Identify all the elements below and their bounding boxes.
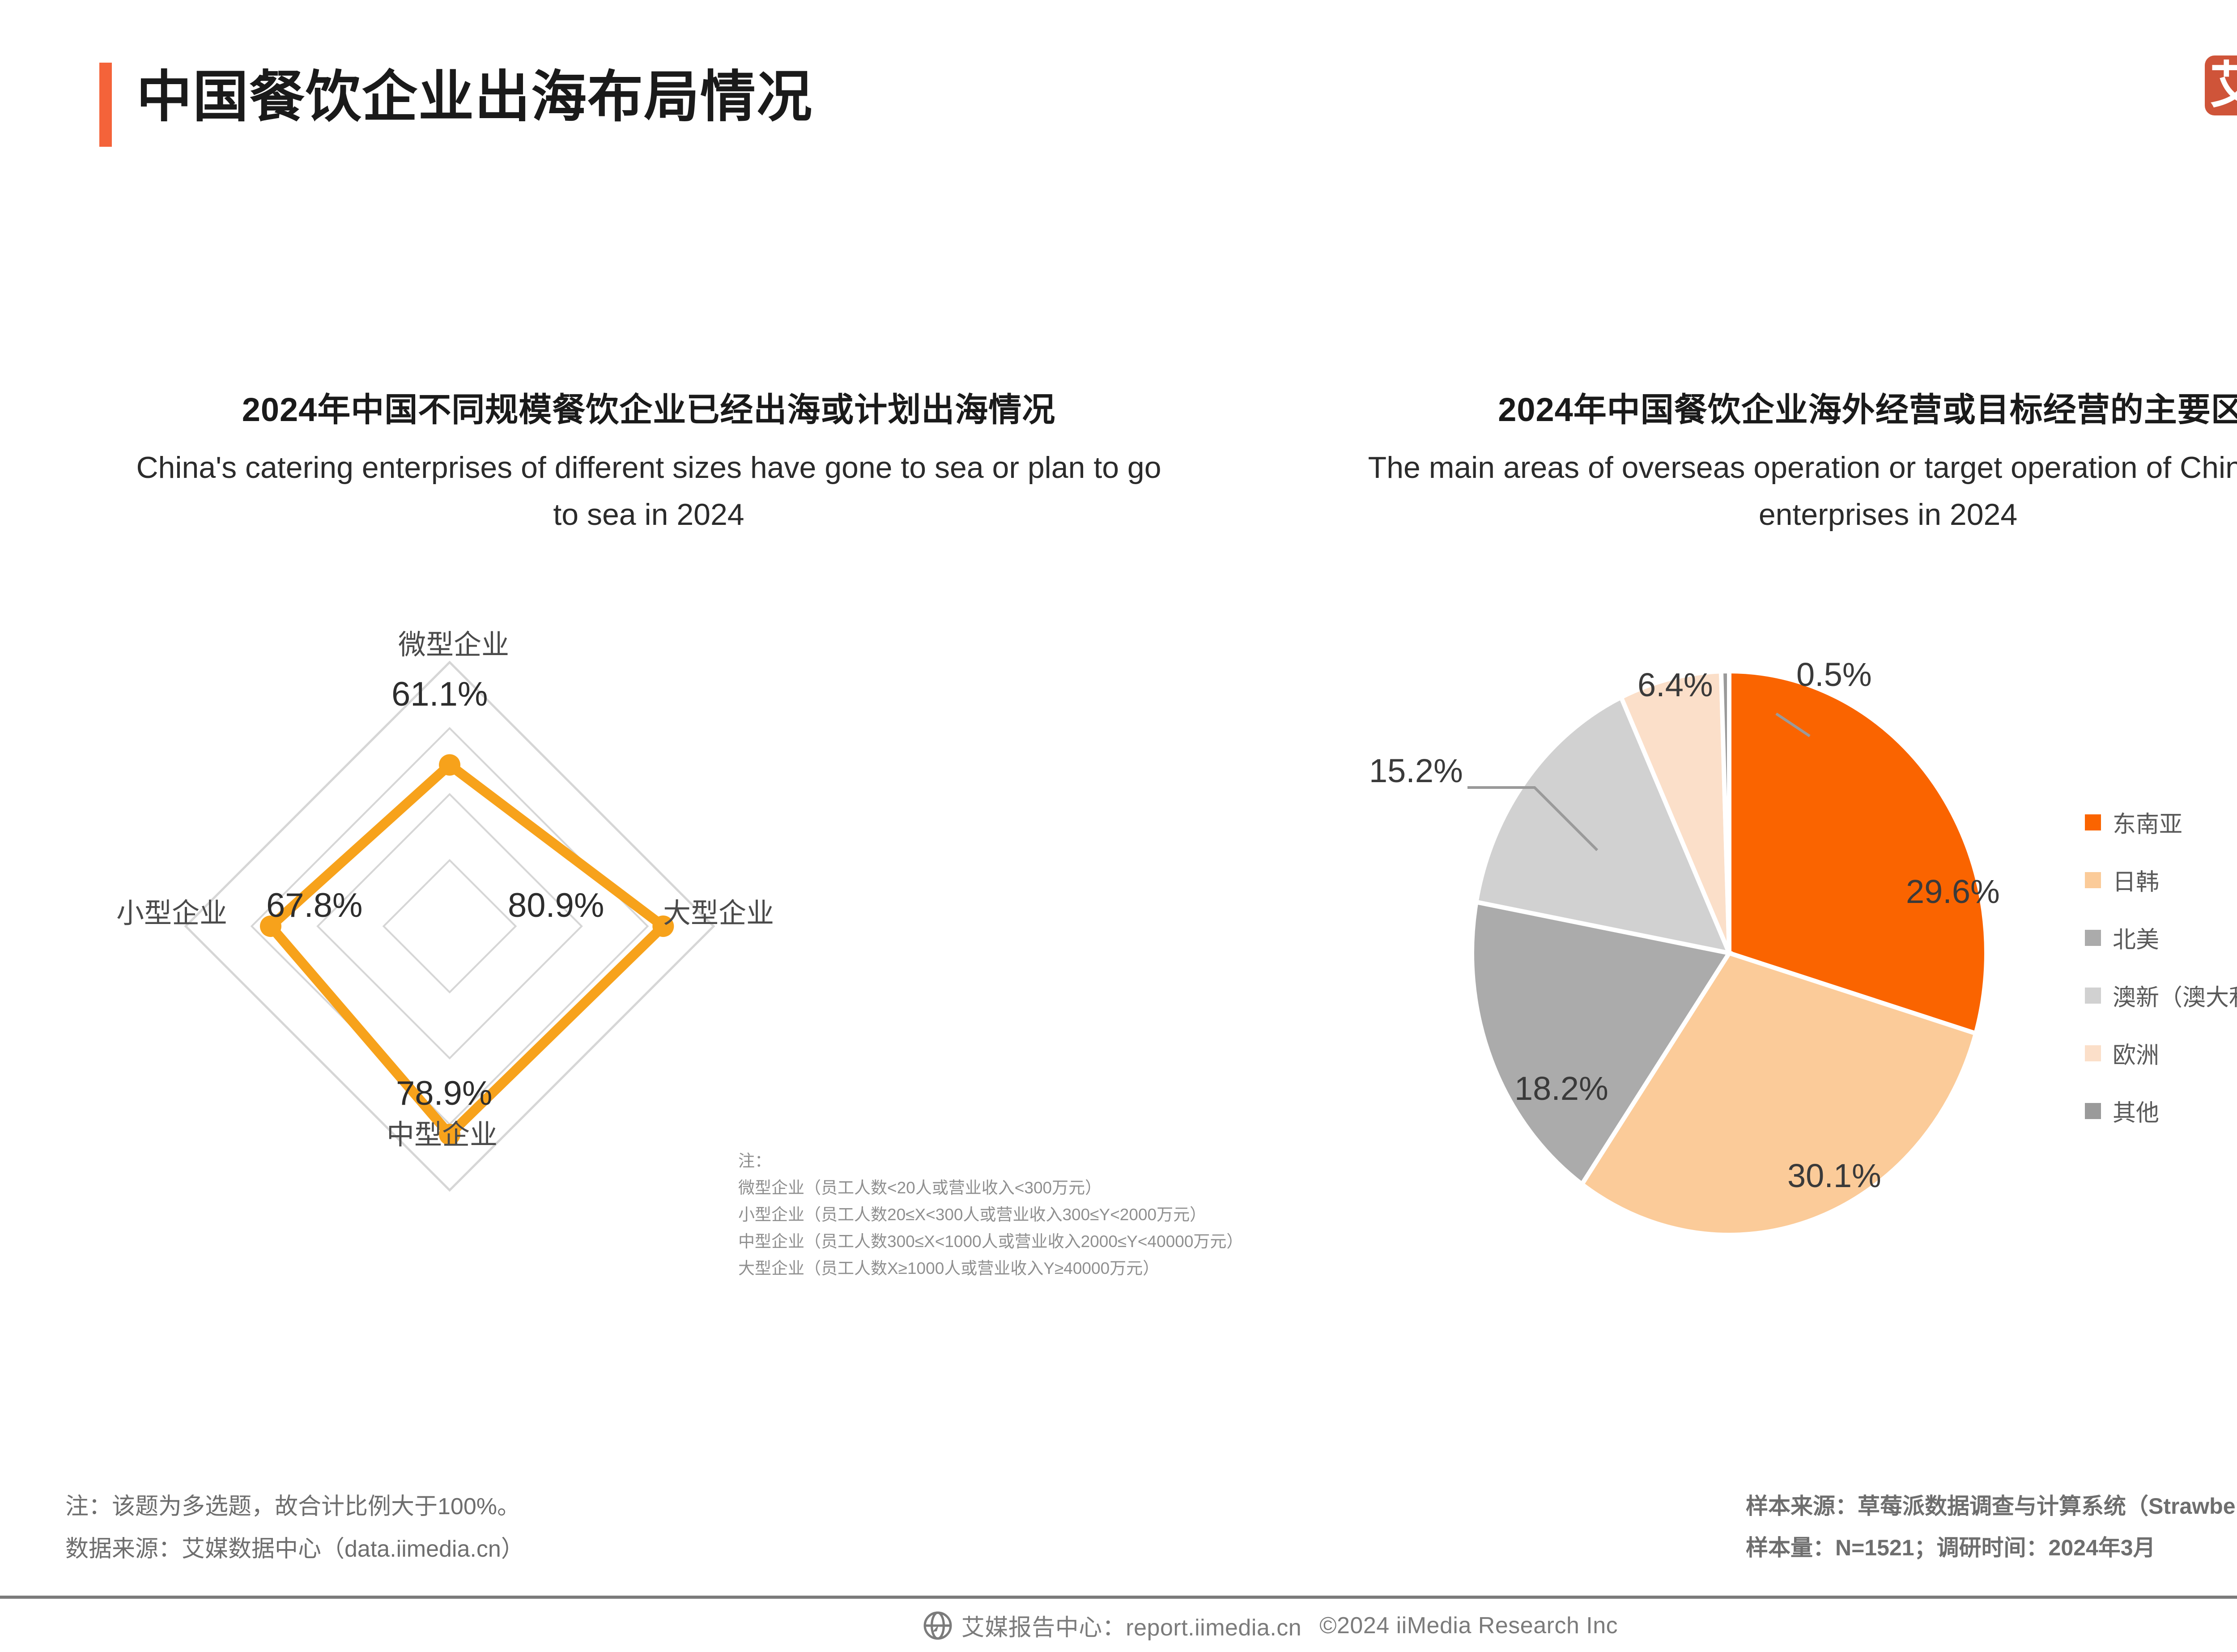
pie-value-japan-korea: 30.1% (1787, 1157, 1881, 1195)
legend-label: 北美 (2113, 921, 2159, 954)
legend-item-southeast-asia[interactable]: 东南亚 (2085, 805, 2237, 839)
pie-chart: 29.6% 30.1% 18.2% 15.2% 6.4% 0.5% 东南亚 日韩… (1324, 640, 2237, 1275)
legend-label: 东南亚 (2113, 805, 2182, 839)
report-page: 中国餐饮企业出海布局情况 艾 艾媒咨询 iiMedia Research 202… (0, 0, 2237, 1652)
footer-bar: 艾媒报告中心：report.iimedia.cn ©2024 iiMedia R… (0, 1599, 2237, 1652)
footer-note-multiselect: 注：该题为多选题，故合计比例大于100%。 (65, 1486, 524, 1528)
left-panel-title-en: China's catering enterprises of differen… (54, 444, 1244, 539)
footer-sample-size-row: 样本量：N=1521；调研时间：2024年3月 (1746, 1527, 2237, 1569)
legend-swatch-icon (2085, 1045, 2101, 1061)
brand-logo: 艾 艾媒咨询 iiMedia Research (2205, 48, 2237, 123)
note-line-micro: 微型企业（员工人数<20人或营业收入<300万元） (738, 1175, 1243, 1201)
radar-chart: 微型企业 大型企业 中型企业 小型企业 61.1% 80.9% 78.9% 67… (112, 617, 1051, 1289)
legend-item-japan-korea[interactable]: 日韩 (2085, 863, 2237, 897)
radar-value-large: 80.9% (508, 886, 604, 925)
footer-sample-source-label: 样本来源： (1746, 1494, 1858, 1519)
note-line-large: 大型企业（员工人数X≥1000人或营业收入Y≥40000万元） (738, 1255, 1243, 1282)
radar-value-medium: 78.9% (396, 1074, 493, 1113)
note-line-medium: 中型企业（员工人数300≤X<1000人或营业收入2000≤Y<40000万元） (738, 1228, 1243, 1255)
pie-legend: 东南亚 日韩 北美 澳新（澳大利亚和新西兰） 欧洲 其他 (2085, 805, 2237, 1128)
legend-label: 澳新（澳大利亚和新西兰） (2113, 979, 2237, 1012)
legend-swatch-icon (2085, 814, 2101, 830)
legend-label: 欧洲 (2113, 1036, 2159, 1070)
radar-axis-label-micro: 微型企业 (398, 622, 509, 662)
radar-value-small: 67.8% (266, 886, 363, 925)
legend-item-north-america[interactable]: 北美 (2085, 921, 2237, 954)
radar-axis-label-medium: 中型企业 (387, 1112, 498, 1152)
footer-sample-source-value: 草莓派数据调查与计算系统（Strawberry Pie） (1858, 1494, 2237, 1519)
radar-value-micro: 61.1% (391, 675, 488, 714)
legend-label: 其他 (2113, 1094, 2159, 1128)
note-heading: 注： (738, 1148, 1243, 1175)
footer-note-datasource: 数据来源：艾媒数据中心（data.iimedia.cn） (65, 1528, 524, 1571)
legend-swatch-icon (2085, 988, 2101, 1004)
legend-item-oceania[interactable]: 澳新（澳大利亚和新西兰） (2085, 979, 2237, 1012)
footer-note-left: 注：该题为多选题，故合计比例大于100%。 数据来源：艾媒数据中心（data.i… (65, 1486, 524, 1570)
enterprise-size-note: 注： 微型企业（员工人数<20人或营业收入<300万元） 小型企业（员工人数20… (738, 1148, 1243, 1282)
footer-sample-source-row: 样本来源：草莓派数据调查与计算系统（Strawberry Pie） (1746, 1486, 2237, 1527)
legend-label: 日韩 (2113, 863, 2159, 897)
right-panel-title-en: The main areas of overseas operation or … (1289, 444, 2237, 539)
footer-copyright: ©2024 iiMedia Research Inc (1319, 1612, 1618, 1639)
footer-note-right: 样本来源：草莓派数据调查与计算系统（Strawberry Pie） 样本量：N=… (1746, 1486, 2237, 1569)
pie-value-oceania: 15.2% (1369, 752, 1463, 790)
page-header: 中国餐饮企业出海布局情况 艾 艾媒咨询 iiMedia Research (0, 0, 2237, 206)
legend-item-europe[interactable]: 欧洲 (2085, 1036, 2237, 1070)
note-line-small: 小型企业（员工人数20≤X<300人或营业收入300≤Y<2000万元） (738, 1201, 1243, 1228)
logo-mark-glyph: 艾 (2205, 55, 2237, 115)
footer-divider (0, 1596, 2237, 1599)
pie-slices (1472, 671, 1986, 1235)
radar-data-point (439, 754, 460, 776)
page-title: 中国餐饮企业出海布局情况 (136, 57, 813, 138)
footer-report-center[interactable]: 艾媒报告中心：report.iimedia.cn (961, 1609, 1301, 1642)
pie-value-north-america: 18.2% (1514, 1069, 1608, 1107)
right-panel-heading: 2024年中国餐饮企业海外经营或目标经营的主要区域 The main areas… (1289, 385, 2237, 539)
pie-value-other: 0.5% (1796, 656, 1872, 694)
footer-sample-size-value: N=1521；调研时间：2024年3月 (1835, 1535, 2156, 1560)
radar-axis-label-large: 大型企业 (663, 890, 774, 931)
legend-item-other[interactable]: 其他 (2085, 1094, 2237, 1128)
right-panel-title-cn: 2024年中国餐饮企业海外经营或目标经营的主要区域 (1289, 385, 2237, 434)
pie-value-europe: 6.4% (1637, 666, 1713, 704)
left-panel-heading: 2024年中国不同规模餐饮企业已经出海或计划出海情况 China's cater… (54, 385, 1244, 539)
left-panel-title-cn: 2024年中国不同规模餐饮企业已经出海或计划出海情况 (54, 385, 1244, 434)
footer-sample-size-label: 样本量： (1746, 1535, 1835, 1560)
pie-value-southeast-asia: 29.6% (1906, 873, 2000, 911)
title-accent-bar (99, 63, 112, 147)
legend-swatch-icon (2085, 1103, 2101, 1119)
logo-mark-icon: 艾 (2205, 55, 2237, 115)
legend-swatch-icon (2085, 872, 2101, 888)
radar-axis-label-small: 小型企业 (116, 890, 227, 931)
legend-swatch-icon (2085, 930, 2101, 946)
globe-icon (923, 1611, 953, 1640)
